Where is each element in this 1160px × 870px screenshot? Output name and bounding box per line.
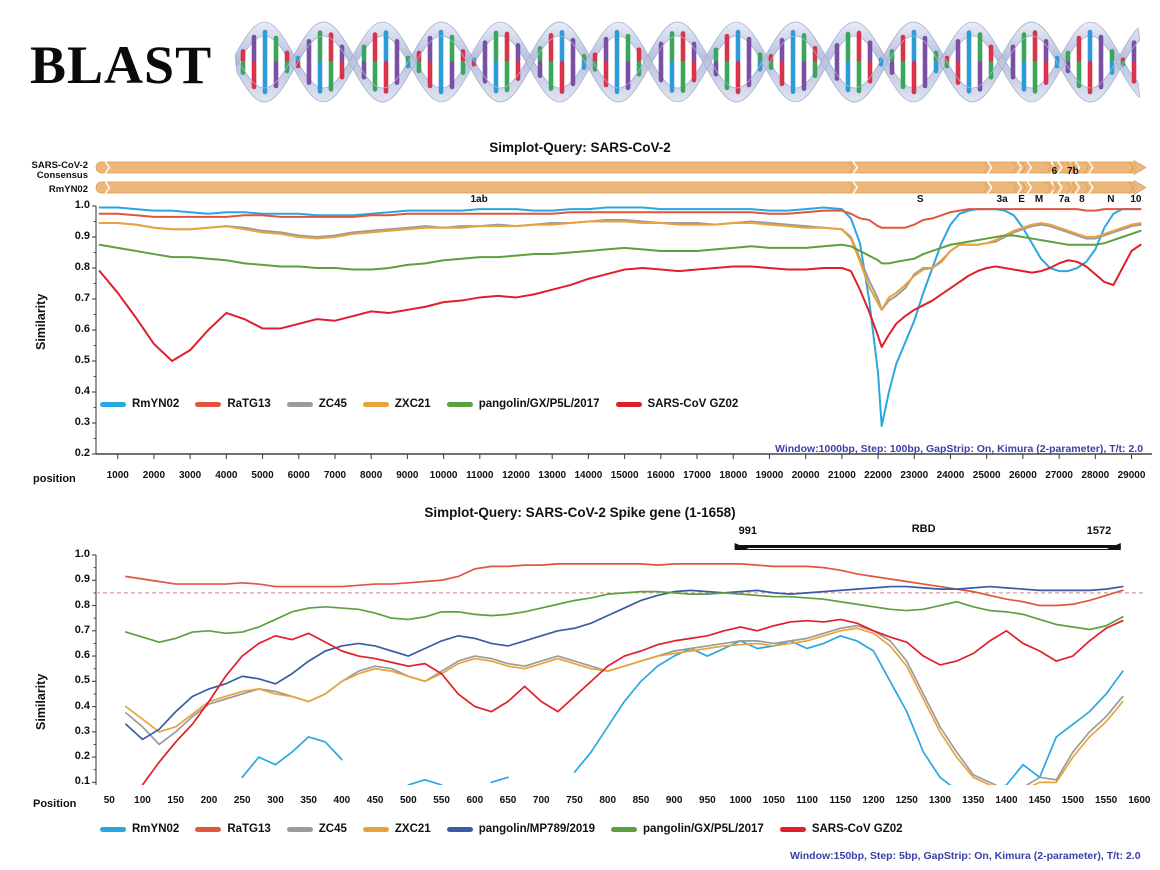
legend-label: ZC45 [319, 823, 347, 835]
legend-swatch [363, 402, 389, 407]
gene-label-7b: 7b [1049, 166, 1097, 177]
legend-item-zxc21[interactable]: ZXC21 [363, 398, 431, 410]
legend-label: ZXC21 [395, 398, 431, 410]
legend-item-pangolin-mp789-2019[interactable]: pangolin/MP789/2019 [447, 823, 595, 835]
legend-swatch [100, 827, 126, 832]
legend-swatch [447, 827, 473, 832]
legend-item-pangolin-gx-p5l-2017[interactable]: pangolin/GX/P5L/2017 [611, 823, 764, 835]
legend-spike: RmYN02RaTG13ZC45ZXC21pangolin/MP789/2019… [100, 823, 919, 835]
genome-simplot-plot [0, 200, 1160, 460]
chart-title-spike: Simplot-Query: SARS-CoV-2 Spike gene (1-… [0, 505, 1160, 520]
x-axis-label-2: Position [33, 798, 76, 810]
legend-label: RmYN02 [132, 398, 179, 410]
dna-double-helix-icon [235, 2, 1140, 122]
x-tick: 1600 [1111, 795, 1160, 806]
genome-simplot-panel: Simplot-Query: SARS-CoV-2 SARS-CoV-2Cons… [0, 140, 1160, 500]
legend-label: ZXC21 [395, 823, 431, 835]
legend-swatch [195, 402, 221, 407]
legend-item-zc45[interactable]: ZC45 [287, 823, 347, 835]
legend-label: SARS-CoV GZ02 [812, 823, 903, 835]
legend-swatch [195, 827, 221, 832]
legend-item-ratg13[interactable]: RaTG13 [195, 823, 270, 835]
spike-simplot-panel: Simplot-Query: SARS-CoV-2 Spike gene (1-… [0, 505, 1160, 870]
legend-swatch [287, 402, 313, 407]
legend-item-rmyn02[interactable]: RmYN02 [100, 823, 179, 835]
legend-item-sars-cov-gz02[interactable]: SARS-CoV GZ02 [616, 398, 739, 410]
legend-item-rmyn02[interactable]: RmYN02 [100, 398, 179, 410]
page-header: BLAST [0, 0, 1160, 125]
legend-item-zc45[interactable]: ZC45 [287, 398, 347, 410]
legend-item-ratg13[interactable]: RaTG13 [195, 398, 270, 410]
legend-swatch [611, 827, 637, 832]
legend-swatch [447, 402, 473, 407]
params-text-2: Window:150bp, Step: 5bp, GapStrip: On, K… [790, 850, 1141, 862]
legend-label: pangolin/MP789/2019 [479, 823, 595, 835]
chart-title-genome: Simplot-Query: SARS-CoV-2 [0, 140, 1160, 155]
params-text-1: Window:1000bp, Step: 100bp, GapStrip: On… [775, 443, 1143, 455]
x-tick: 29000 [1104, 470, 1160, 481]
legend-item-sars-cov-gz02[interactable]: SARS-CoV GZ02 [780, 823, 903, 835]
legend-swatch [363, 827, 389, 832]
rbd-region-label: RBD [912, 523, 936, 535]
legend-swatch [100, 402, 126, 407]
legend-swatch [780, 827, 806, 832]
legend-label: RaTG13 [227, 823, 270, 835]
spike-simplot-plot [0, 535, 1160, 785]
legend-swatch [287, 827, 313, 832]
legend-label: RmYN02 [132, 823, 179, 835]
blast-logo-title: BLAST [30, 34, 212, 96]
legend-label: ZC45 [319, 398, 347, 410]
legend-label: SARS-CoV GZ02 [648, 398, 739, 410]
legend-label: RaTG13 [227, 398, 270, 410]
legend-swatch [616, 402, 642, 407]
legend-label: pangolin/GX/P5L/2017 [479, 398, 600, 410]
legend-label: pangolin/GX/P5L/2017 [643, 823, 764, 835]
x-axis-label-1: position [33, 473, 76, 485]
legend-item-pangolin-gx-p5l-2017[interactable]: pangolin/GX/P5L/2017 [447, 398, 600, 410]
legend-item-zxc21[interactable]: ZXC21 [363, 823, 431, 835]
legend-genome: RmYN02RaTG13ZC45ZXC21pangolin/GX/P5L/201… [100, 398, 754, 410]
